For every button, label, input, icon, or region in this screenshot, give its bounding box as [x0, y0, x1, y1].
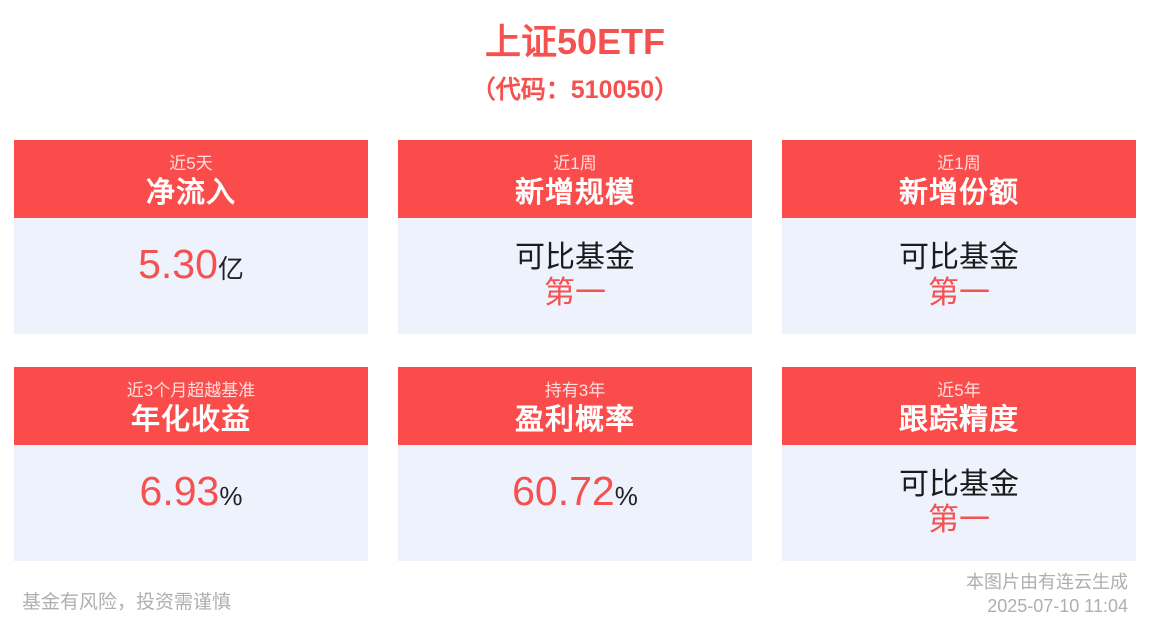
stat-value-number: 60.72: [512, 467, 615, 515]
stat-card-body: 可比基金 第一: [782, 445, 1136, 561]
stat-value-unit: 亿: [218, 254, 244, 284]
stat-card-metric: 新增规模: [515, 175, 635, 211]
stat-card-body: 60.72 %: [398, 445, 752, 561]
stat-card-header: 持有3年 盈利概率: [398, 367, 752, 445]
stat-card[interactable]: 近3个月超越基准 年化收益 6.93 %: [14, 367, 368, 561]
stat-card-period: 近1周: [553, 153, 596, 175]
stat-card-period: 近5天: [169, 153, 212, 175]
stat-rank-label: 可比基金: [899, 467, 1019, 503]
stat-value-row: 60.72 %: [512, 467, 638, 515]
fund-code-subtitle: （代码：510050）: [0, 72, 1150, 108]
stat-card-metric: 净流入: [146, 175, 236, 211]
stat-rank-value: 第一: [544, 275, 606, 311]
image-source-note: 本图片由有连云生成: [966, 570, 1128, 594]
stat-card[interactable]: 近1周 新增规模 可比基金 第一: [398, 140, 752, 334]
stat-card-header: 近1周 新增规模: [398, 140, 752, 218]
stat-card-grid: 近5天 净流入 5.30 亿 近1周 新增规模 可比基金 第一 近1周 新增份额…: [14, 140, 1136, 561]
stat-card-body: 可比基金 第一: [782, 218, 1136, 334]
stat-value-row: 6.93 %: [140, 467, 243, 515]
stat-card-metric: 盈利概率: [515, 402, 635, 438]
page-header: 上证50ETF （代码：510050）: [0, 0, 1150, 108]
stat-value-number: 6.93: [140, 467, 220, 515]
stat-card-period: 近5年: [937, 380, 980, 402]
stat-card-body: 5.30 亿: [14, 218, 368, 334]
stat-card[interactable]: 近1周 新增份额 可比基金 第一: [782, 140, 1136, 334]
stat-card-body: 可比基金 第一: [398, 218, 752, 334]
stat-rank-value: 第一: [928, 275, 990, 311]
stat-card-period: 近1周: [937, 153, 980, 175]
stat-rank-value: 第一: [928, 502, 990, 538]
stat-card-header: 近5年 跟踪精度: [782, 367, 1136, 445]
stat-value-row: 5.30 亿: [138, 240, 244, 288]
footer-meta: 本图片由有连云生成 2025-07-10 11:04: [966, 570, 1128, 618]
risk-disclaimer: 基金有风险，投资需谨慎: [22, 590, 231, 618]
stat-card-header: 近3个月超越基准 年化收益: [14, 367, 368, 445]
stat-rank-label: 可比基金: [515, 240, 635, 276]
stat-value-unit: %: [615, 481, 638, 511]
stat-card-period: 近3个月超越基准: [127, 380, 255, 402]
stat-value-unit: %: [219, 481, 242, 511]
stat-card-metric: 跟踪精度: [899, 402, 1019, 438]
stat-card-metric: 新增份额: [899, 175, 1019, 211]
stat-card-body: 6.93 %: [14, 445, 368, 561]
stat-card-period: 持有3年: [545, 380, 605, 402]
footer: 基金有风险，投资需谨慎 本图片由有连云生成 2025-07-10 11:04: [0, 572, 1150, 618]
stat-rank-label: 可比基金: [899, 240, 1019, 276]
stat-card-metric: 年化收益: [131, 402, 251, 438]
stat-card-header: 近5天 净流入: [14, 140, 368, 218]
stat-card[interactable]: 近5天 净流入 5.30 亿: [14, 140, 368, 334]
stat-card[interactable]: 持有3年 盈利概率 60.72 %: [398, 367, 752, 561]
stat-value-number: 5.30: [138, 240, 218, 288]
generation-timestamp: 2025-07-10 11:04: [966, 594, 1128, 618]
stat-card[interactable]: 近5年 跟踪精度 可比基金 第一: [782, 367, 1136, 561]
stat-card-header: 近1周 新增份额: [782, 140, 1136, 218]
page-title: 上证50ETF: [0, 20, 1150, 64]
